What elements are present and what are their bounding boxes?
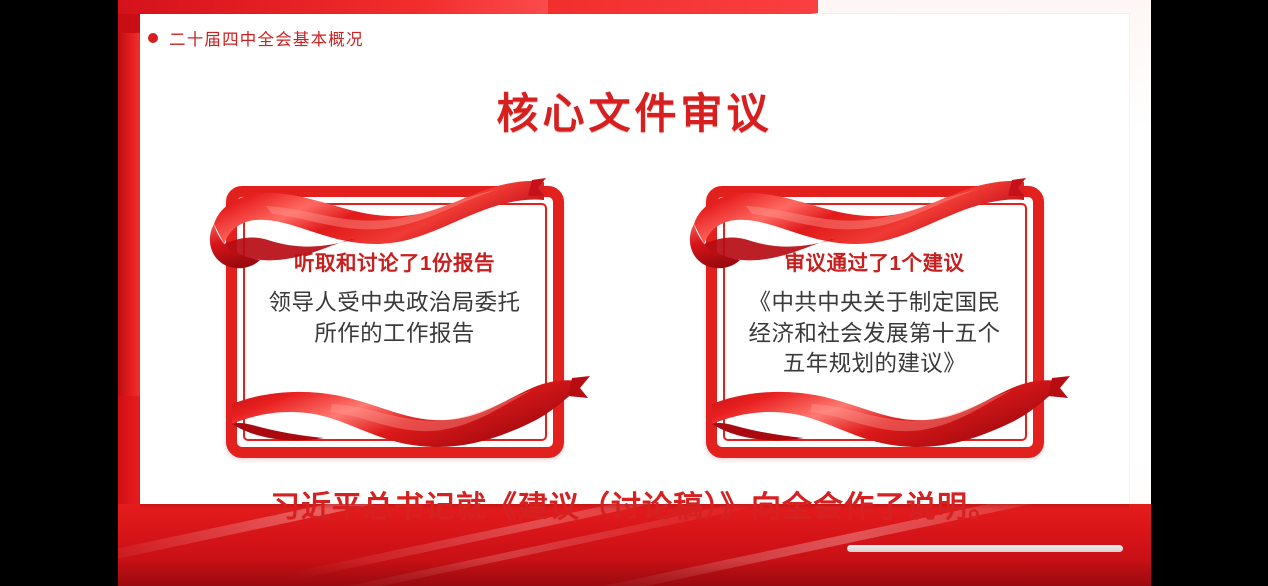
card-body-text: 领导人受中央政治局委托所作的工作报告	[263, 288, 527, 349]
cards-row: 听取和讨论了1份报告 领导人受中央政治局委托所作的工作报告	[118, 172, 1151, 472]
card-heading: 审议通过了1个建议	[785, 246, 965, 276]
card-text-block: 审议通过了1个建议 《中共中央关于制定国民经济和社会发展第十五个五年规划的建议》	[730, 224, 1020, 422]
video-player-frame: 二十届四中全会基本概况 核心文件审议 听取和讨论了1份报告 领导人受中央政治局委…	[0, 0, 1268, 586]
footer-shade	[118, 560, 1151, 586]
breadcrumb: 二十届四中全会基本概况	[148, 26, 364, 50]
info-card-left: 听取和讨论了1份报告 领导人受中央政治局委托所作的工作报告	[210, 172, 580, 472]
info-card-right: 审议通过了1个建议 《中共中央关于制定国民经济和社会发展第十五个五年规划的建议》	[690, 172, 1060, 472]
presentation-slide: 二十届四中全会基本概况 核心文件审议 听取和讨论了1份报告 领导人受中央政治局委…	[118, 0, 1151, 586]
section-label: 二十届四中全会基本概况	[169, 26, 364, 50]
bullet-dot-icon	[148, 33, 158, 43]
slide-caption: 习近平总书记就《建议（讨论稿）》向全会作了说明。	[118, 482, 1151, 526]
top-ribbon-highlight	[118, 0, 548, 14]
card-body-text: 《中共中央关于制定国民经济和社会发展第十五个五年规划的建议》	[743, 288, 1007, 380]
page-title: 核心文件审议	[118, 80, 1151, 141]
card-text-block: 听取和讨论了1份报告 领导人受中央政治局委托所作的工作报告	[250, 224, 540, 422]
letterbox-right	[1151, 0, 1268, 586]
footer-accent-pill	[847, 545, 1123, 552]
letterbox-left	[0, 0, 118, 586]
card-heading: 听取和讨论了1份报告	[294, 246, 495, 276]
